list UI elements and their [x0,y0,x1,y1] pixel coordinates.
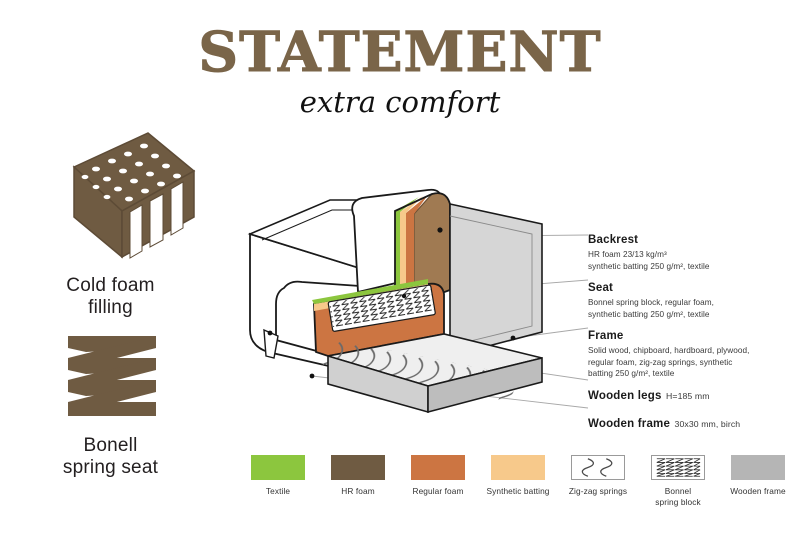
legend-item-wooden-frame: Wooden frame [718,455,798,497]
legend-label-regular-foam: Regular foam [398,486,478,497]
legend-label-bonnel-line1: Bonnel [638,486,718,497]
callout-seat-desc: Bonnel spring block, regular foam, synth… [588,297,800,320]
legend-item-bonnel-spring-block: Bonnel spring block [638,455,718,508]
callout-dot-wooden-legs [268,331,273,336]
callout-seat-title: Seat [588,282,613,294]
legend-swatch-bonnel-spring-block-icon [651,455,705,480]
callout-seat: Seat Bonnel spring block, regular foam, … [588,278,800,320]
page-title: STATEMENT [0,24,800,79]
feature-bonell-spring-label: Bonell spring seat [8,435,213,480]
legend-swatch-synthetic-batting [491,455,545,480]
callout-frame-desc-line3: batting 250 g/m², textile [588,368,800,380]
feature-cold-foam: Cold foam filling [8,125,213,320]
feature-cold-foam-line1: Cold foam [8,275,213,297]
legend-swatch-hr-foam [331,455,385,480]
callout-dot-seat [402,294,406,298]
page-subtitle: extra comfort [0,88,800,117]
callout-dot-wooden-frame [310,374,315,379]
legend-swatch-textile [251,455,305,480]
legend-swatch-zigzag-springs-icon [571,455,625,480]
callout-dot-backrest [437,227,442,232]
callout-wooden-frame-title: Wooden frame [588,418,670,430]
legend-swatch-wooden-frame [731,455,785,480]
legend-label-bonnel-spring-block: Bonnel spring block [638,486,718,508]
legend-label-hr-foam: HR foam [318,486,398,497]
callout-frame-desc: Solid wood, chipboard, hardboard, plywoo… [588,345,800,380]
legend-swatch-regular-foam [411,455,465,480]
callout-wooden-legs-value: H=185 mm [666,391,710,401]
callout-wooden-frame-value: 30x30 mm, birch [675,419,741,429]
legend-item-hr-foam: HR foam [318,455,398,497]
legend-label-textile: Textile [238,486,318,497]
callout-dot-frame [511,336,516,341]
callout-wooden-legs-title: Wooden legs [588,390,662,402]
sofa-cutaway-diagram [232,180,602,430]
callout-backrest-desc-line2: synthetic batting 250 g/m², textile [588,261,800,273]
cold-foam-block-icon [26,125,196,275]
legend-item-textile: Textile [238,455,318,497]
legend-label-zigzag-springs: Zig-zag springs [558,486,638,497]
callout-wooden-legs: Wooden legs H=185 mm [588,386,800,404]
callout-frame-desc-line1: Solid wood, chipboard, hardboard, plywoo… [588,345,800,357]
legend-item-zigzag-springs: Zig-zag springs [558,455,638,497]
callout-backrest: Backrest HR foam 23/13 kg/m³ synthetic b… [588,230,800,272]
legend-label-wooden-frame: Wooden frame [718,486,798,497]
feature-bonell-line1: Bonell [8,435,213,457]
callout-frame-desc-line2: regular foam, zig-zag springs, synthetic [588,357,800,369]
legend: Textile HR foam Regular foam Synthetic b… [238,455,798,508]
bonell-spring-zigzag-icon [26,330,196,435]
callout-frame: Frame Solid wood, chipboard, hardboard, … [588,326,800,380]
callout-frame-title: Frame [588,330,624,342]
feature-bonell-line2: spring seat [8,457,213,479]
legend-item-regular-foam: Regular foam [398,455,478,497]
feature-cold-foam-line2: filling [8,297,213,319]
callout-backrest-desc: HR foam 23/13 kg/m³ synthetic batting 25… [588,249,800,272]
feature-bonell-spring: Bonell spring seat [8,330,213,480]
feature-cold-foam-label: Cold foam filling [8,275,213,320]
callout-wooden-frame: Wooden frame 30x30 mm, birch [588,414,800,432]
callout-backrest-title: Backrest [588,234,638,246]
legend-label-synthetic-batting: Synthetic batting [478,486,558,497]
legend-label-bonnel-line2: spring block [638,497,718,508]
legend-item-synthetic-batting: Synthetic batting [478,455,558,497]
callout-seat-desc-line2: synthetic batting 250 g/m², textile [588,309,800,321]
callout-backrest-desc-line1: HR foam 23/13 kg/m³ [588,249,800,261]
callout-seat-desc-line1: Bonnel spring block, regular foam, [588,297,800,309]
poster-canvas: STATEMENT extra comfort [0,0,800,533]
